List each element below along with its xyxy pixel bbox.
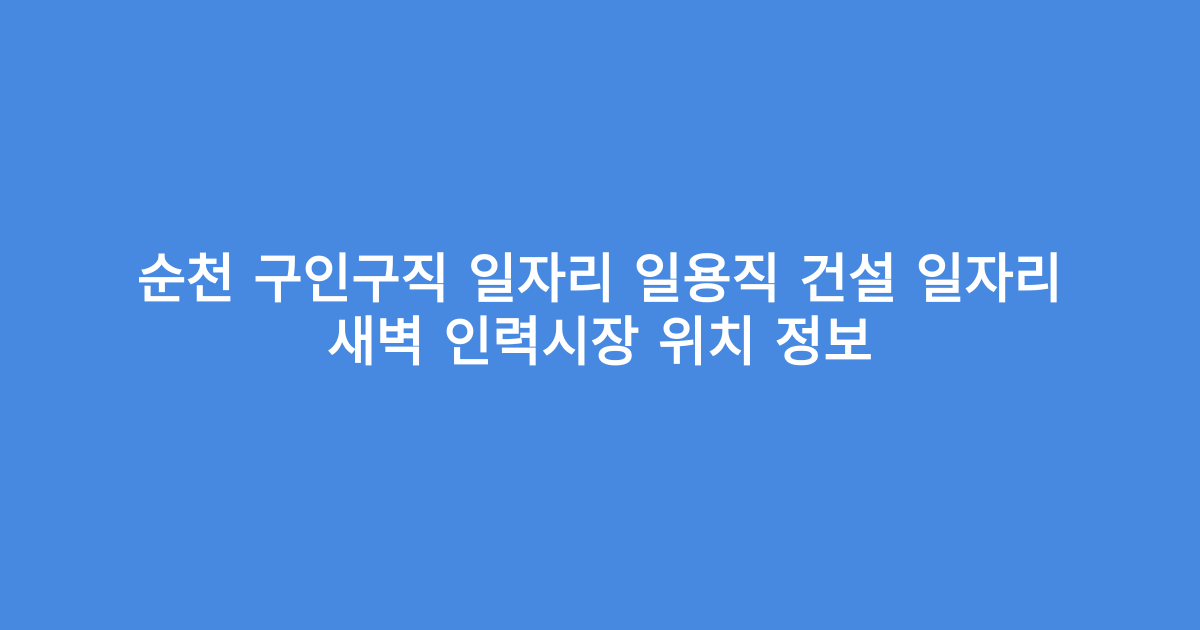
- headline-block: 순천 구인구직 일자리 일용직 건설 일자리 새벽 인력시장 위치 정보: [80, 248, 1120, 374]
- page-title: 순천 구인구직 일자리 일용직 건설 일자리 새벽 인력시장 위치 정보: [80, 248, 1120, 374]
- og-banner-card: 순천 구인구직 일자리 일용직 건설 일자리 새벽 인력시장 위치 정보: [0, 0, 1200, 630]
